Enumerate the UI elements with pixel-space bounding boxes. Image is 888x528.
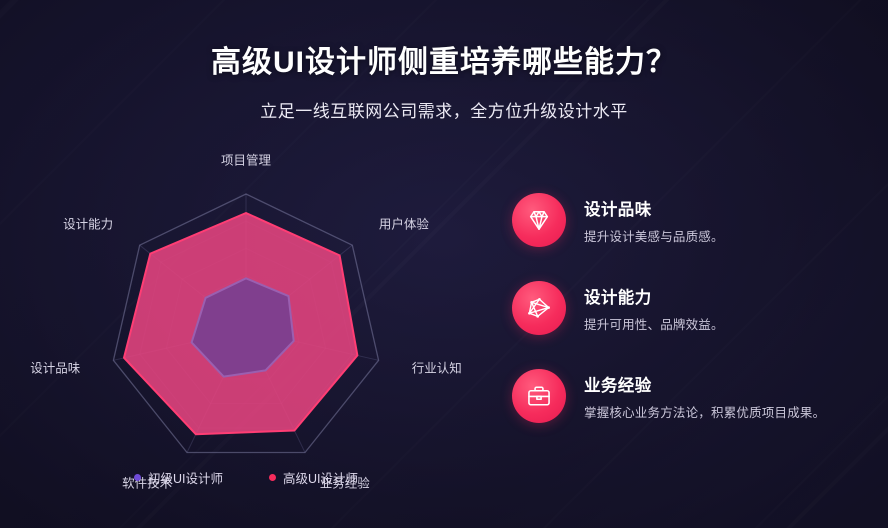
radar-chart-svg: 项目管理用户体验行业认知业务经验软件技术设计品味设计能力 [20, 150, 472, 500]
legend-label-junior: 初级UI设计师 [148, 468, 223, 487]
feature-text-design-taste: 设计品味 提升设计美感与品质感。 [584, 196, 724, 245]
legend-item-junior[interactable]: 初级UI设计师 [134, 468, 223, 487]
radar-axis-label: 用户体验 [379, 217, 430, 232]
briefcase-icon [512, 369, 566, 423]
feature-title: 设计能力 [584, 284, 724, 308]
feature-card-design-taste[interactable]: 设计品味 提升设计美感与品质感。 [512, 192, 882, 248]
legend-dot-senior [269, 474, 276, 481]
vector-polygon-icon [512, 281, 566, 335]
radar-series-group [124, 213, 357, 434]
page-subtitle: 立足一线互联网公司需求，全方位升级设计水平 [0, 97, 888, 122]
feature-card-design-ability[interactable]: 设计能力 提升可用性、品牌效益。 [512, 280, 882, 336]
radar-axis-label: 设计能力 [63, 217, 113, 232]
feature-card-business-experience[interactable]: 业务经验 掌握核心业务方法论，积累优质项目成果。 [512, 368, 882, 424]
legend-item-senior[interactable]: 高级UI设计师 [269, 468, 358, 487]
feature-desc: 提升设计美感与品质感。 [584, 226, 724, 245]
radar-axis-label: 行业认知 [412, 361, 462, 375]
diamond-icon [512, 193, 566, 247]
radar-axis-label: 项目管理 [221, 153, 272, 168]
legend-label-senior: 高级UI设计师 [283, 468, 358, 487]
feature-text-design-ability: 设计能力 提升可用性、品牌效益。 [584, 284, 724, 333]
chart-legend: 初级UI设计师 高级UI设计师 [20, 468, 472, 487]
feature-desc: 掌握核心业务方法论，积累优质项目成果。 [584, 402, 825, 421]
radar-axis-label: 设计品味 [30, 360, 81, 375]
page-title: 高级UI设计师侧重培养哪些能力？ [0, 44, 888, 82]
feature-title: 业务经验 [584, 372, 825, 396]
page-stage: 高级UI设计师侧重培养哪些能力？ 立足一线互联网公司需求，全方位升级设计水平 项… [0, 0, 888, 528]
legend-dot-junior [134, 474, 141, 481]
radar-chart: 项目管理用户体验行业认知业务经验软件技术设计品味设计能力 [20, 150, 472, 500]
feature-desc: 提升可用性、品牌效益。 [584, 314, 724, 333]
feature-list: 设计品味 提升设计美感与品质感。 [512, 192, 882, 424]
header: 高级UI设计师侧重培养哪些能力？ 立足一线互联网公司需求，全方位升级设计水平 [0, 44, 888, 122]
feature-text-business-experience: 业务经验 掌握核心业务方法论，积累优质项目成果。 [584, 372, 825, 421]
feature-title: 设计品味 [584, 196, 724, 220]
